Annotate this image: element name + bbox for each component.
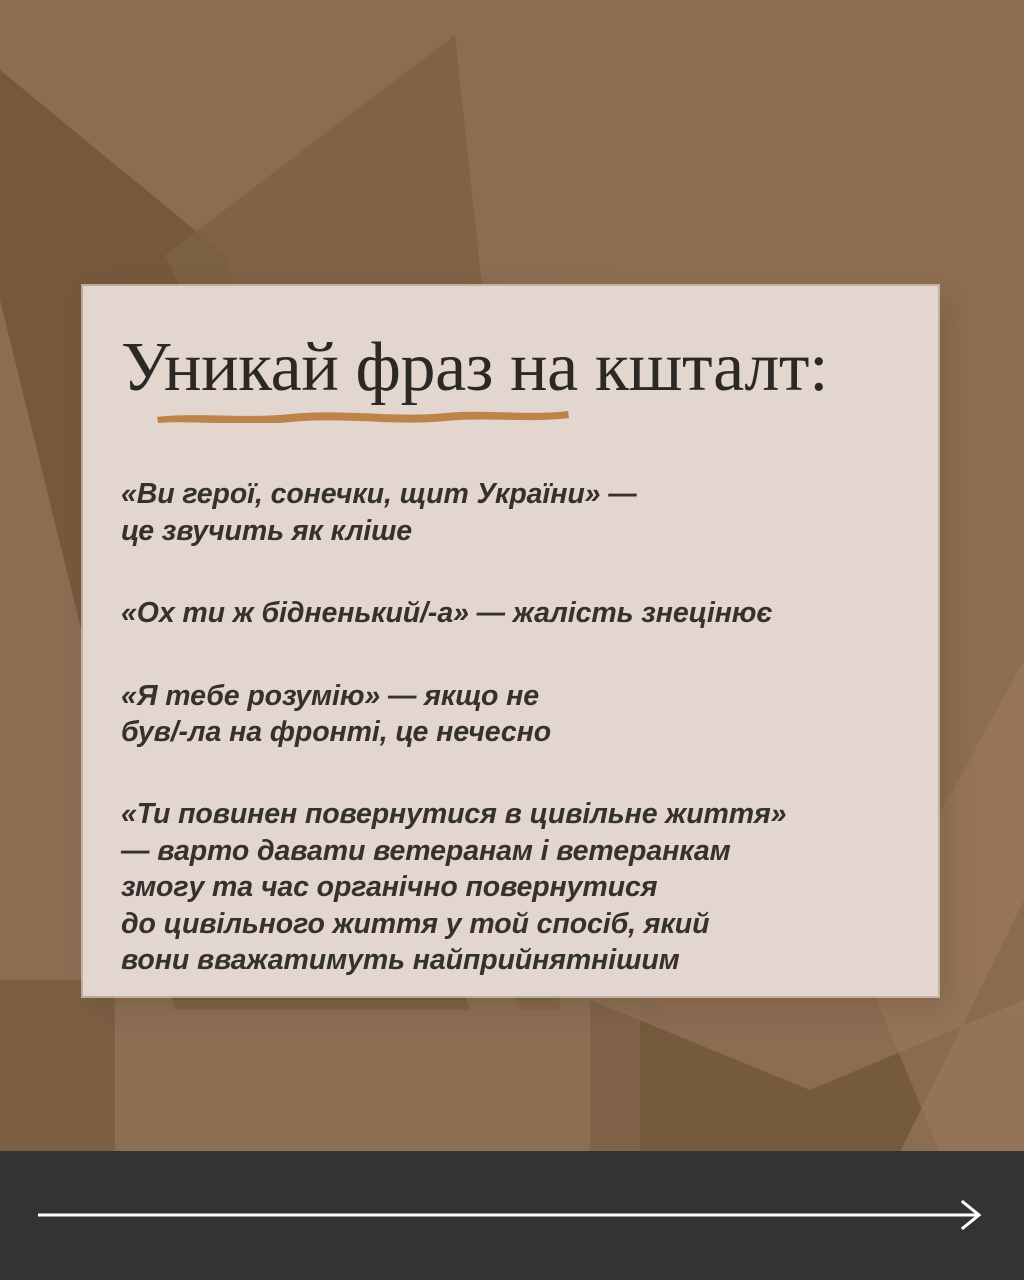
- background-shape-lower-panel: [110, 1000, 640, 1152]
- phrase-item-1: «Ви герої, сонечки, щит України» — це зв…: [121, 476, 900, 549]
- phrase-item-4: «Ти повинен повернутися в цивільне життя…: [121, 796, 900, 978]
- footer-bar: [0, 1151, 1024, 1280]
- brush-underline-icon: [156, 408, 570, 423]
- phrase-list: «Ви герої, сонечки, щит України» — це зв…: [121, 476, 900, 979]
- title-area: Уникай фраз на кшталт:: [121, 328, 900, 404]
- background-shape-lower-left: [0, 980, 115, 1152]
- phrase-item-3: «Я тебе розумію» — якщо не був/-ла на фр…: [121, 678, 900, 751]
- phrase-item-2: «Ох ти ж бідненький/-а» — жалість знецін…: [121, 595, 900, 631]
- arrow-right-icon[interactable]: [38, 1197, 986, 1233]
- content-card: Уникай фраз на кшталт: «Ви герої, сонечк…: [83, 286, 938, 996]
- page-title: Уникай фраз на кшталт:: [121, 332, 900, 404]
